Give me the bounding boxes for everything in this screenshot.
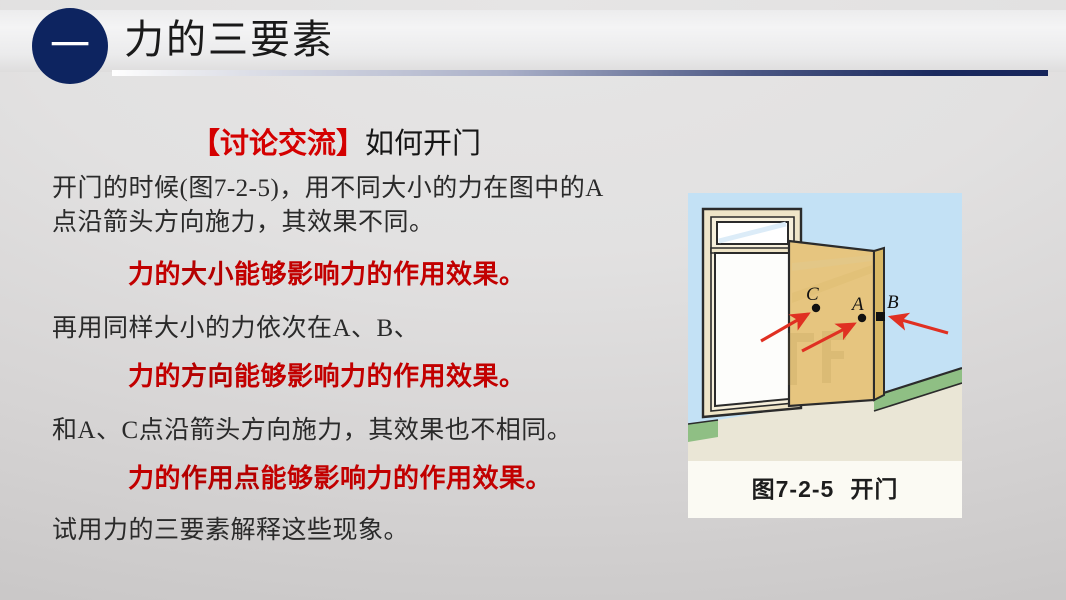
conclusion-point-keyword: 作用点 [181,463,261,493]
conclusion-direction-prefix: 力的 [128,361,181,391]
discussion-heading: 【讨论交流】如何开门 [0,124,672,164]
middle-line: 再用同样大小的力依次在A、B、 [52,312,419,346]
intro-line-1: 开门的时候(图7-2-5)，用不同大小的力在图中的A [52,172,604,206]
conclusion-magnitude-keyword: 大小 [181,259,234,289]
label-a: A [850,294,864,315]
conclusion-magnitude-suffix: 能够影响力的作用效果。 [234,259,526,289]
conclusion-point-suffix: 能够影响力的作用效果。 [261,463,553,493]
conclusion-direction-keyword: 方向 [181,361,234,391]
closing-line: 试用力的三要素解释这些现象。 [52,514,409,548]
conclusion-direction-suffix: 能够影响力的作用效果。 [234,361,526,391]
header-underline-rule [112,70,1048,76]
conclusion-magnitude-prefix: 力的 [128,259,181,289]
point-a-dot [858,314,866,322]
figure-panel: C A B 图7-2-5开门 [688,193,962,518]
label-b: B [887,292,899,313]
label-c: C [806,284,819,305]
tail-line: 和A、C点沿箭头方向施力，其效果也不相同。 [52,414,572,448]
discussion-heading-rest: 如何开门 [365,128,481,160]
door-illustration: C A B [688,193,962,461]
conclusion-magnitude: 力的大小能够影响力的作用效果。 [128,256,526,292]
point-c-dot [812,304,820,312]
content-column: 【讨论交流】如何开门 开门的时候(图7-2-5)，用不同大小的力在图中的A 点沿… [0,124,672,554]
figure-caption-text: 开门 [850,476,898,502]
intro-line-2: 点沿箭头方向施力，其效果不同。 [52,206,435,240]
figure-caption: 图7-2-5开门 [688,461,962,518]
door-edge [874,248,884,400]
conclusion-direction: 力的方向能够影响力的作用效果。 [128,358,526,394]
point-b-marker [876,312,885,321]
page-title: 力的三要素 [124,14,334,66]
discussion-heading-bracketed: 【讨论交流】 [191,128,365,160]
conclusion-point-of-action: 力的作用点能够影响力的作用效果。 [128,460,552,496]
conclusion-point-prefix: 力的 [128,463,181,493]
section-number-badge: 一 [32,8,108,84]
figure-caption-number: 图7-2-5 [752,476,835,502]
slide-canvas: 一 力的三要素 【讨论交流】如何开门 开门的时候(图7-2-5)，用不同大小的力… [0,0,1066,600]
